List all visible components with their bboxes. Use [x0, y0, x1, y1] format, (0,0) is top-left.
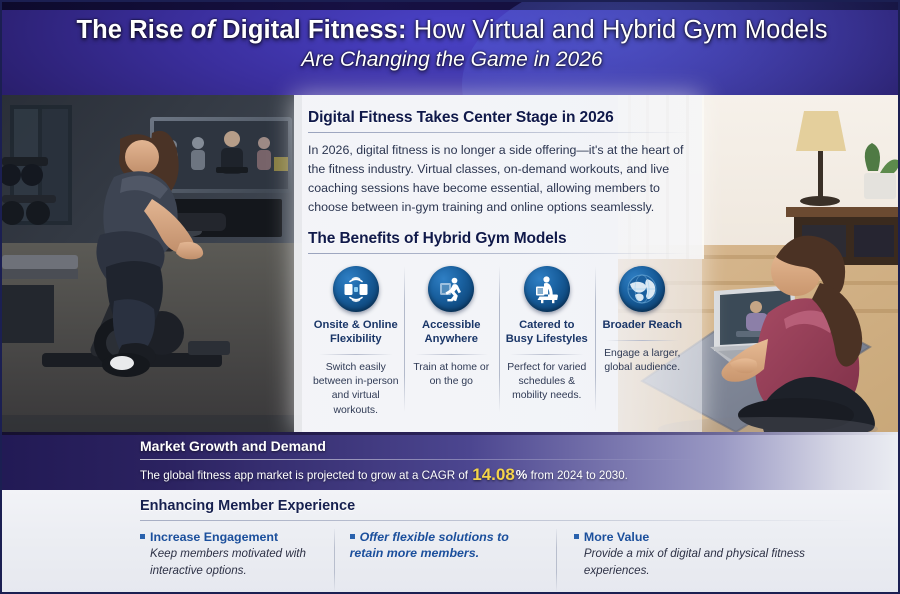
benefit-divider — [606, 340, 680, 341]
benefit-description: Train at home or on the go — [409, 361, 495, 390]
benefits-heading: The Benefits of Hybrid Gym Models — [308, 230, 690, 248]
enhancing-item-heading-text: Offer flexible solutions to retain more … — [350, 530, 509, 560]
benefit-label: Accessible Anywhere — [409, 319, 495, 346]
devices-sync-icon — [333, 266, 379, 312]
market-divider — [140, 459, 700, 460]
intro-body: In 2026, digital fitness is no longer a … — [308, 141, 690, 216]
benefit-label-line1: Catered to — [519, 319, 574, 331]
market-growth-band: Market Growth and Demand The global fitn… — [2, 432, 900, 490]
benefits-columns: Onsite & Online Flexibility Switch easil… — [308, 262, 690, 418]
enhancing-item-text: Keep members motivated with interactive … — [140, 546, 320, 579]
enhancing-item-heading: Offer flexible solutions to retain more … — [350, 529, 542, 561]
bullet-icon — [140, 534, 145, 539]
benefit-description: Switch easily between in-person and virt… — [313, 361, 399, 418]
market-cagr-value: 14.08 — [471, 465, 516, 484]
benefit-divider — [510, 354, 584, 355]
benefit-card-catered-to-busy-lifestyles[interactable]: Catered to Busy Lifestyles Perfect for v… — [499, 262, 595, 418]
benefits-divider — [308, 253, 690, 254]
enhancing-divider — [140, 520, 858, 521]
intro-divider — [308, 132, 690, 133]
enhancing-item-heading-text: More Value — [584, 530, 649, 544]
enhancing-member-experience-section: Enhancing Member Experience Increase Eng… — [2, 490, 900, 594]
person-with-laptop-icon — [524, 266, 570, 312]
main-content-panel: Digital Fitness Takes Center Stage in 20… — [294, 95, 702, 432]
benefit-divider — [415, 354, 489, 355]
market-statistic: The global fitness app market is project… — [140, 465, 900, 485]
enhancing-columns: Increase Engagement Keep members motivat… — [140, 529, 860, 579]
enhancing-item-more-value[interactable]: More Value Provide a mix of digital and … — [556, 529, 860, 579]
title-segment-rest: How Virtual and Hybrid Gym Models — [407, 16, 828, 44]
market-stat-suffix: from 2024 to 2030. — [527, 469, 628, 482]
benefit-divider — [319, 354, 393, 355]
benefit-label: Onsite & Online Flexibility — [313, 319, 399, 346]
benefit-label-line2: Flexibility — [330, 333, 382, 345]
benefit-label-line2: Busy Lifestyles — [506, 333, 588, 345]
benefits-section: The Benefits of Hybrid Gym Models — [308, 230, 690, 418]
title-segment-digital-fitness: Digital Fitness: — [222, 16, 406, 44]
benefit-card-accessible-anywhere[interactable]: Accessible Anywhere Train at home or on … — [404, 262, 500, 418]
benefit-card-broader-reach[interactable]: Broader Reach Engage a larger, global au… — [595, 262, 691, 418]
gym-spin-bike-photo — [2, 95, 302, 432]
market-heading: Market Growth and Demand — [140, 438, 900, 454]
enhancing-item-text: Provide a mix of digital and physical fi… — [574, 546, 846, 579]
enhancing-heading: Enhancing Member Experience — [140, 498, 900, 514]
running-person-icon — [428, 266, 474, 312]
benefit-description: Engage a larger, global audience. — [600, 347, 686, 376]
enhancing-item-increase-engagement[interactable]: Increase Engagement Keep members motivat… — [140, 529, 334, 579]
benefit-description: Perfect for varied schedules & mobility … — [504, 361, 590, 404]
title-segment-the-rise: The Rise — [76, 16, 190, 44]
benefit-label: Broader Reach — [600, 319, 686, 333]
benefit-label-line1: Onsite & Online — [314, 319, 398, 331]
title-segment-of: of — [191, 16, 222, 44]
benefit-label: Catered to Busy Lifestyles — [504, 319, 590, 346]
globe-icon — [619, 266, 665, 312]
benefit-label-line2: Anywhere — [425, 333, 478, 345]
market-cagr-percent: % — [516, 467, 528, 482]
enhancing-item-heading-text: Increase Engagement — [150, 530, 278, 544]
intro-heading: Digital Fitness Takes Center Stage in 20… — [308, 109, 690, 127]
enhancing-item-offer-flexible-solutions[interactable]: Offer flexible solutions to retain more … — [334, 529, 556, 579]
benefit-label-line1: Accessible — [422, 319, 480, 331]
benefit-card-onsite-online-flexibility[interactable]: Onsite & Online Flexibility Switch easil… — [308, 262, 404, 418]
infographic-root: The Rise of Digital Fitness: How Virtual… — [0, 0, 900, 594]
header-banner: The Rise of Digital Fitness: How Virtual… — [2, 2, 900, 95]
enhancing-item-heading: Increase Engagement — [140, 529, 320, 545]
market-stat-prefix: The global fitness app market is project… — [140, 469, 471, 482]
page-subtitle: Are Changing the Game in 2026 — [2, 48, 900, 72]
bullet-icon — [350, 534, 355, 539]
bullet-icon — [574, 534, 579, 539]
enhancing-item-heading: More Value — [574, 529, 846, 545]
benefit-label-line1: Broader Reach — [602, 319, 682, 331]
page-title: The Rise of Digital Fitness: How Virtual… — [2, 16, 900, 45]
